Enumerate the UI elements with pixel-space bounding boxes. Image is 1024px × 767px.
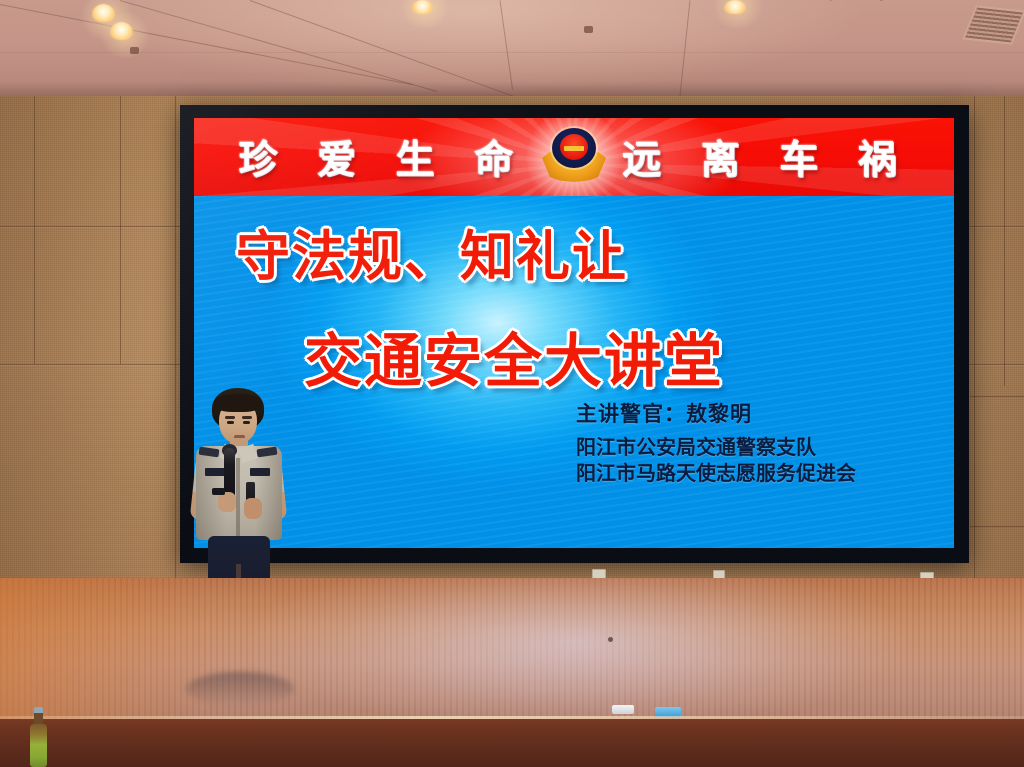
banner-text-row: 珍 爱 生 命 远 离 车 祸 — [194, 118, 954, 196]
slide-title-line-2: 交通安全大讲堂 — [304, 314, 724, 398]
bottle-body — [30, 724, 47, 767]
led-screen-display[interactable]: 珍 爱 生 命 远 离 车 祸 守法规、知礼让 交通安全大讲堂 — [194, 118, 954, 548]
wall-seam-vertical — [34, 96, 35, 364]
photo-scene: 珍 爱 生 命 远 离 车 祸 守法规、知礼让 交通安全大讲堂 — [0, 0, 1024, 767]
ceiling-sprinkler-icon — [584, 26, 593, 33]
wall-seam-horizontal — [970, 526, 1024, 527]
ceiling-seam — [0, 52, 1024, 53]
slide-subtitle-line: 阳江市马路天使志愿服务促进会 — [576, 460, 856, 486]
ceiling-spotlight — [110, 22, 133, 40]
speaker-chest-badge — [205, 468, 225, 476]
badge-bar — [564, 146, 584, 151]
speaker-name-tag — [250, 468, 270, 476]
speaker-right-hand — [244, 498, 262, 519]
beverage-bottle — [30, 707, 47, 767]
banner-left-text: 珍 爱 生 命 — [238, 129, 526, 185]
floor-item-white-packet — [612, 705, 634, 714]
speaker-wristwatch-icon — [212, 488, 225, 495]
china-police-badge-icon — [540, 126, 608, 188]
screen-slide-body: 守法规、知礼让 交通安全大讲堂 主讲警官：敖黎明 阳江市公安局交通警察支队 阳江… — [194, 196, 954, 548]
speaker-left-hand — [218, 492, 236, 512]
banner-right-text: 远 离 车 祸 — [622, 129, 910, 185]
wall-seam-vertical — [120, 96, 121, 364]
speaker-eye — [243, 421, 250, 424]
wall-seam-vertical — [175, 96, 176, 582]
ceiling-spotlight — [724, 0, 746, 14]
speaker-shirt-placket — [236, 458, 240, 540]
wall-seam-vertical — [1004, 96, 1005, 386]
floor-debris — [608, 637, 613, 642]
ceiling-sprinkler-icon — [130, 47, 139, 54]
wall-seam-vertical — [974, 96, 975, 582]
speaker-eye — [227, 421, 234, 424]
slide-title-line-1: 守法规、知礼让 — [236, 212, 628, 291]
wall-seam-horizontal — [970, 396, 1024, 397]
slide-subtitle-line: 阳江市公安局交通警察支队 — [576, 434, 856, 460]
ceiling-spotlight — [412, 0, 433, 14]
screen-red-banner: 珍 爱 生 命 远 离 车 祸 — [194, 118, 954, 196]
speaker-floor-reflection — [186, 672, 294, 706]
speaker-eyebrow — [242, 416, 252, 419]
speaker-eyebrow — [225, 416, 235, 419]
slide-subtitle-block: 主讲警官：敖黎明 阳江市公安局交通警察支队 阳江市马路天使志愿服务促进会 — [576, 401, 856, 487]
slide-subtitle-line: 主讲警官：敖黎明 — [576, 401, 856, 429]
stage-front-panel — [0, 719, 1024, 767]
led-screen-bezel: 珍 爱 生 命 远 离 车 祸 守法规、知礼让 交通安全大讲堂 — [180, 105, 969, 563]
speaker-fringe — [214, 394, 262, 412]
